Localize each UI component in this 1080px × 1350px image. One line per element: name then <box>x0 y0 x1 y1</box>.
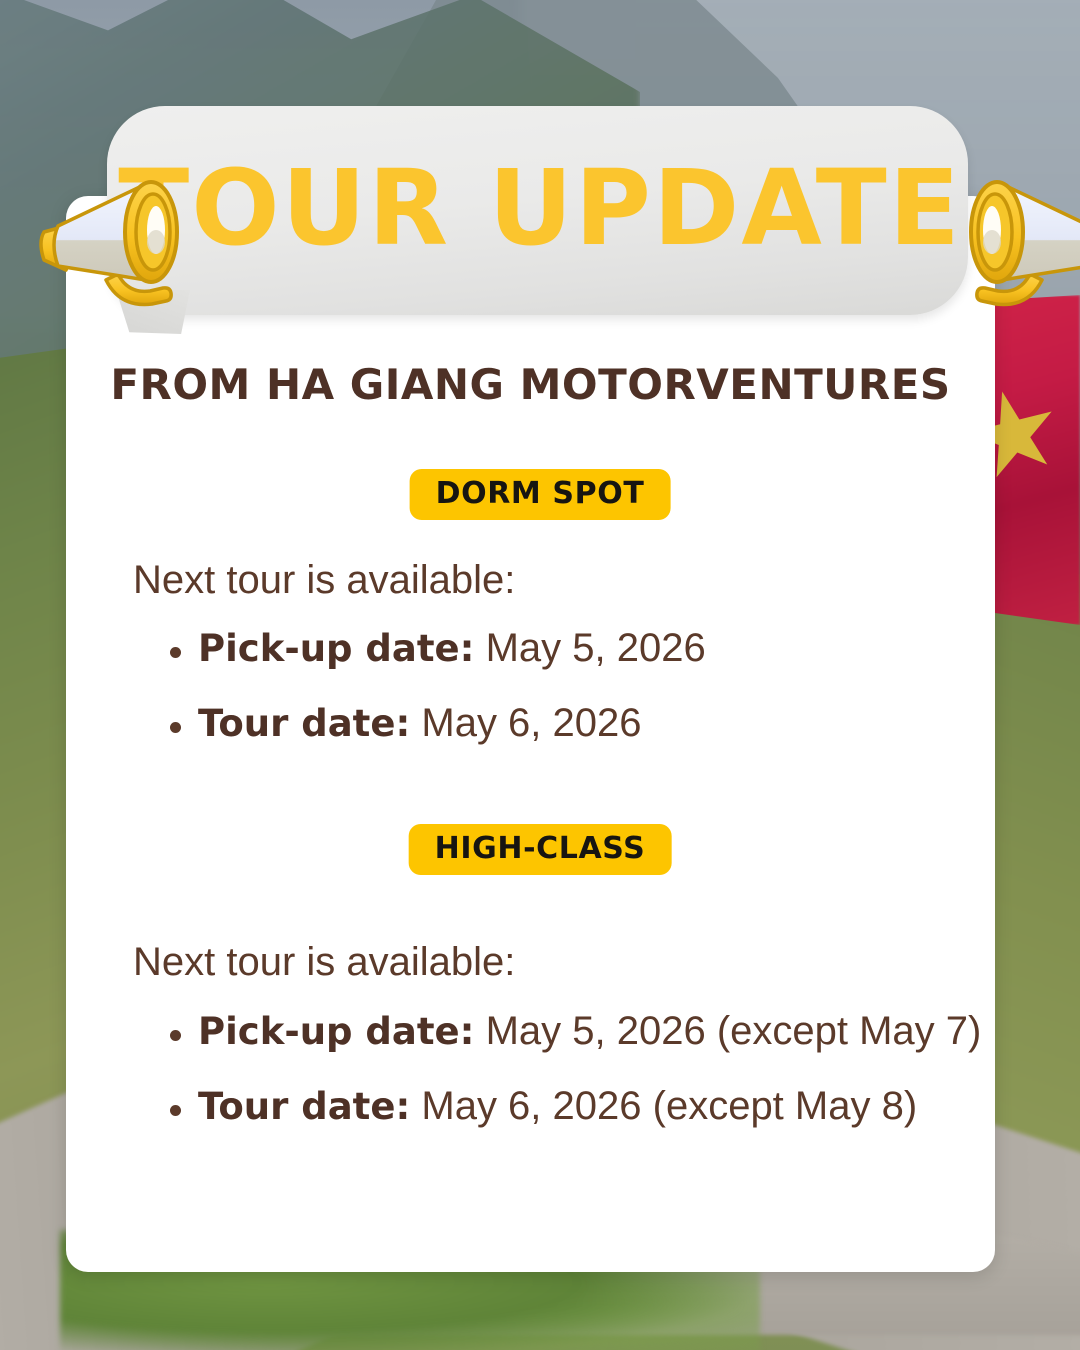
status-badge-dorm-spot: DORM SPOT <box>410 469 671 520</box>
dorm-date-list: Pick-up date: May 5, 2026 Tour date: May… <box>168 625 706 775</box>
dorm-availability-lead: Next tour is available: <box>133 558 515 603</box>
megaphone-icon <box>920 160 1080 330</box>
pickup-date-label: Pick-up date: <box>198 1010 474 1053</box>
highclass-availability-lead: Next tour is available: <box>133 940 515 985</box>
tour-date-value: May 6, 2026 (except May 8) <box>421 1084 917 1128</box>
card-subtitle: FROM HA GIANG MOTORVENTURES <box>66 360 995 409</box>
status-badge-high-class: HIGH-CLASS <box>409 824 672 875</box>
pickup-date-label: Pick-up date: <box>198 627 474 670</box>
list-item: Tour date: May 6, 2026 <box>168 700 706 747</box>
tour-date-label: Tour date: <box>198 1085 410 1128</box>
list-item: Pick-up date: May 5, 2026 <box>168 625 706 672</box>
pickup-date-value: May 5, 2026 <box>486 626 706 670</box>
megaphone-icon <box>28 160 228 330</box>
pickup-date-value: May 5, 2026 (except May 7) <box>486 1009 982 1053</box>
list-item: Pick-up date: May 5, 2026 (except May 7) <box>168 1008 981 1055</box>
list-item: Tour date: May 6, 2026 (except May 8) <box>168 1083 981 1130</box>
highclass-date-list: Pick-up date: May 5, 2026 (except May 7)… <box>168 1008 981 1158</box>
tour-date-label: Tour date: <box>198 702 410 745</box>
tour-date-value: May 6, 2026 <box>421 701 641 745</box>
